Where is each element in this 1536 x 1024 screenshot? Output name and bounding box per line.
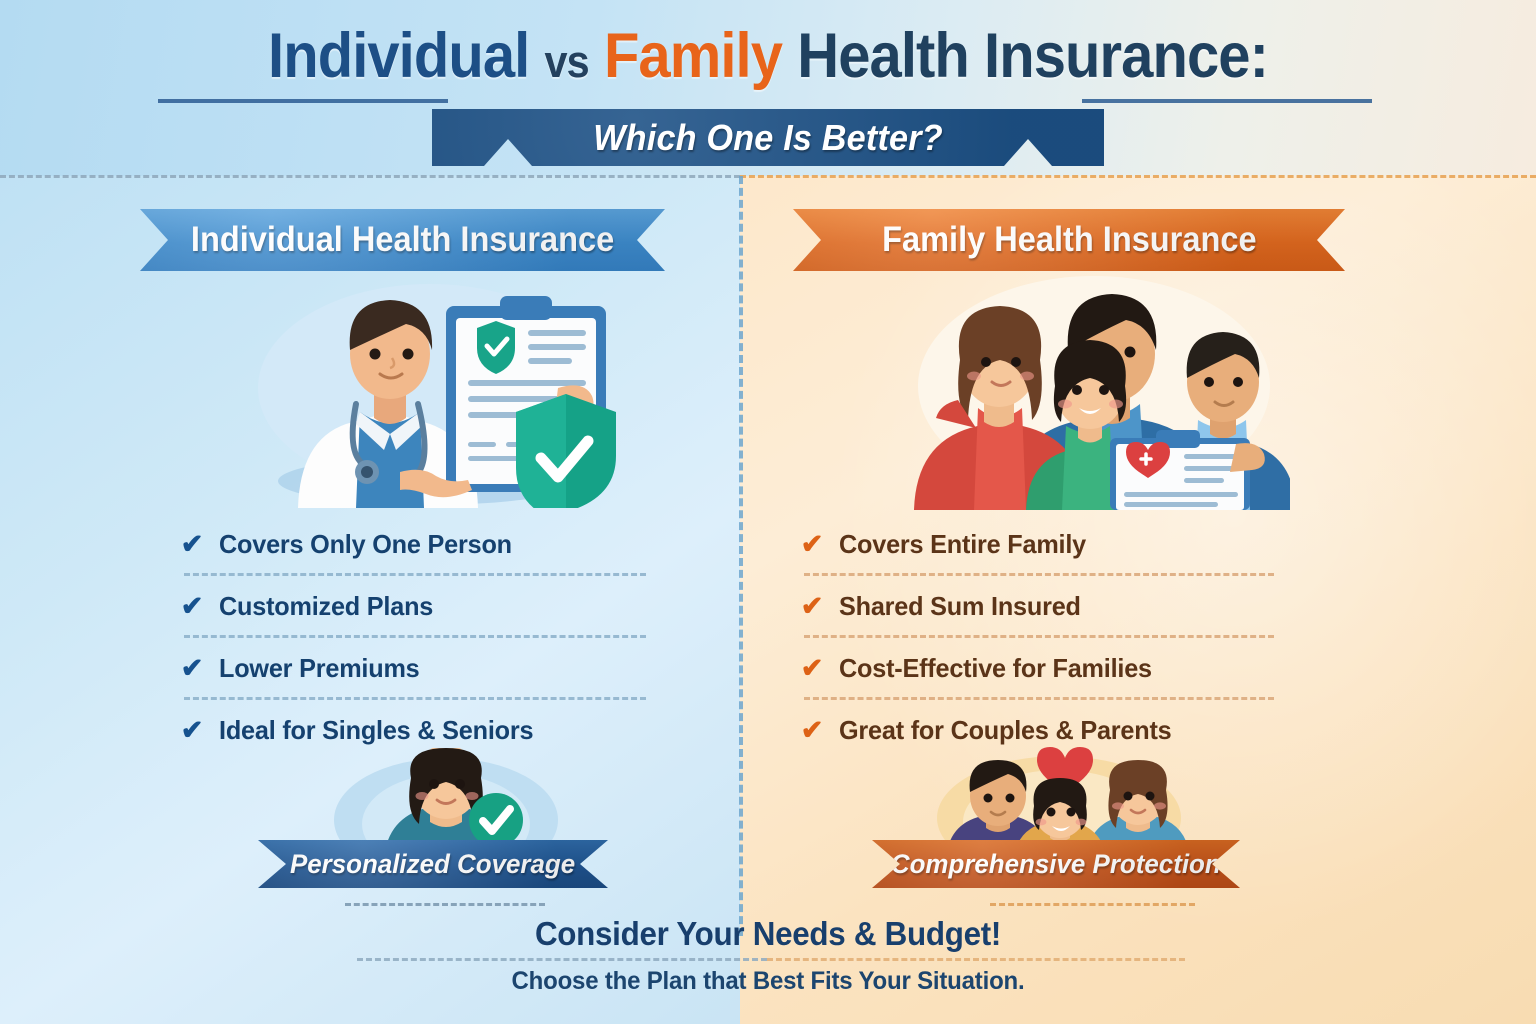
subtitle-ribbon: Which One Is Better? <box>432 109 1104 166</box>
left-column-heading-ribbon: Individual Health Insurance <box>140 209 665 271</box>
left-summary-banner-label: Personalized Coverage <box>290 849 575 880</box>
right-summary-banner: Comprehensive Protection <box>872 840 1240 888</box>
right-column-heading-ribbon: Family Health Insurance <box>793 209 1345 271</box>
footer-divider-mid-left <box>357 958 767 961</box>
right-feature-list: ✔ Covers Entire Family ✔ Shared Sum Insu… <box>800 522 1310 752</box>
check-icon: ✔ <box>800 717 824 744</box>
left-column-heading-label: Individual Health Insurance <box>191 220 614 260</box>
check-icon: ✔ <box>180 531 204 558</box>
title-underline-left <box>158 99 448 103</box>
subtitle-text: Which One Is Better? <box>593 117 943 159</box>
footer-divider-mid-right <box>767 958 1185 961</box>
doctor-holding-clipboard-illustration <box>228 276 632 508</box>
family-of-four-with-clipboard-illustration <box>898 268 1290 510</box>
check-icon: ✔ <box>180 655 204 682</box>
list-item: ✔ Customized Plans <box>180 584 680 628</box>
infographic-canvas: Individual vs Family Health Insurance: W… <box>0 0 1536 1024</box>
list-separator <box>804 697 1274 700</box>
list-item-label: Covers Only One Person <box>219 529 512 560</box>
list-item-label: Lower Premiums <box>219 653 420 684</box>
left-summary-banner: Personalized Coverage <box>258 840 608 888</box>
list-separator <box>804 573 1274 576</box>
title-word-family: Family <box>604 21 782 91</box>
page-title: Individual vs Family Health Insurance: <box>61 20 1474 92</box>
list-item-label: Ideal for Singles & Seniors <box>219 715 533 746</box>
list-item-label: Cost-Effective for Families <box>839 653 1152 684</box>
column-divider-dashed <box>739 176 743 936</box>
header-divider-dashed-right <box>740 175 1536 178</box>
list-item: ✔ Shared Sum Insured <box>800 584 1310 628</box>
right-column-heading-label: Family Health Insurance <box>882 220 1256 260</box>
list-item: ✔ Ideal for Singles & Seniors <box>180 708 680 752</box>
title-underline-right <box>1082 99 1372 103</box>
left-feature-list: ✔ Covers Only One Person ✔ Customized Pl… <box>180 522 680 752</box>
list-item: ✔ Covers Only One Person <box>180 522 680 566</box>
list-separator <box>184 697 646 700</box>
footer-divider-top-right <box>990 903 1195 906</box>
footer-headline: Consider Your Needs & Budget! <box>38 915 1497 953</box>
check-icon: ✔ <box>180 593 204 620</box>
footer-divider-top-left <box>345 903 545 906</box>
list-separator <box>804 635 1274 638</box>
header-divider-dashed-left <box>0 175 740 178</box>
footer-subline: Choose the Plan that Best Fits Your Situ… <box>31 967 1506 996</box>
list-separator <box>184 573 646 576</box>
check-icon: ✔ <box>800 531 824 558</box>
right-summary-banner-label: Comprehensive Protection <box>891 849 1221 880</box>
title-word-vs: vs <box>545 36 589 87</box>
list-item-label: Great for Couples & Parents <box>839 715 1172 746</box>
list-item-label: Customized Plans <box>219 591 433 622</box>
list-item: ✔ Lower Premiums <box>180 646 680 690</box>
list-item-label: Shared Sum Insured <box>839 591 1081 622</box>
list-item: ✔ Cost-Effective for Families <box>800 646 1310 690</box>
list-item-label: Covers Entire Family <box>839 529 1086 560</box>
title-word-individual: Individual <box>268 21 529 91</box>
check-icon: ✔ <box>180 717 204 744</box>
title-word-health-insurance: Health Insurance: <box>797 21 1268 91</box>
check-icon: ✔ <box>800 593 824 620</box>
check-icon: ✔ <box>800 655 824 682</box>
list-separator <box>184 635 646 638</box>
list-item: ✔ Covers Entire Family <box>800 522 1310 566</box>
